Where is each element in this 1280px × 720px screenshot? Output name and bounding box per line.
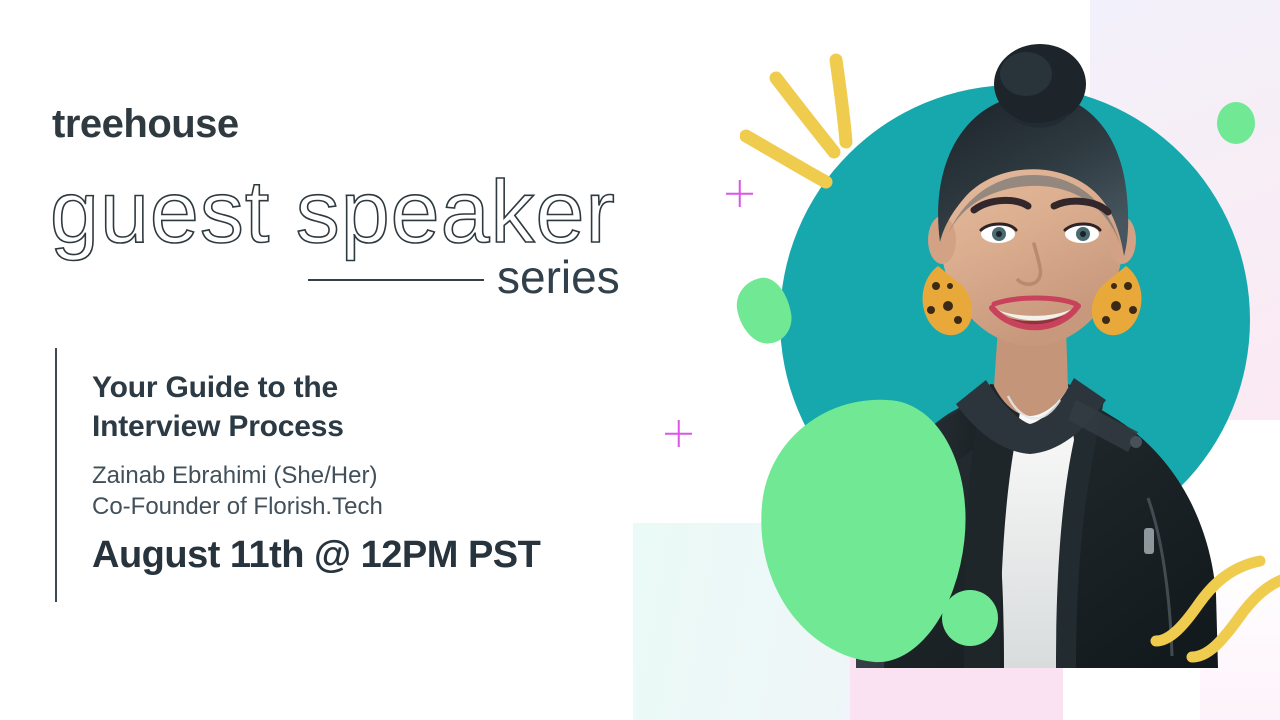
- left-vertical-divider: [55, 348, 57, 602]
- talk-title-line-1: Your Guide to the: [92, 368, 522, 407]
- headline-series: series: [497, 254, 620, 300]
- speaker-role: Co-Founder of Florish.Tech: [92, 491, 383, 523]
- event-datetime: August 11th @ 12PM PST: [92, 535, 540, 577]
- magenta-plus-icon-upper: [726, 180, 753, 207]
- brand-wordmark: treehouse: [52, 104, 239, 144]
- series-divider-rule: [308, 279, 484, 281]
- green-circle-bottom: [942, 590, 998, 646]
- yellow-wavy-lines: [1150, 545, 1280, 680]
- magenta-plus-icon-lower: [665, 420, 692, 447]
- yellow-sparkle-rays: [740, 30, 900, 195]
- guest-speaker-promo-slide: treehouse guest speaker series Your Guid…: [0, 0, 1280, 720]
- talk-title: Your Guide to the Interview Process: [92, 368, 522, 446]
- speaker-name: Zainab Ebrahimi (She/Her): [92, 460, 377, 492]
- svg-text:guest speaker: guest speaker: [50, 162, 616, 261]
- talk-title-line-2: Interview Process: [92, 407, 522, 446]
